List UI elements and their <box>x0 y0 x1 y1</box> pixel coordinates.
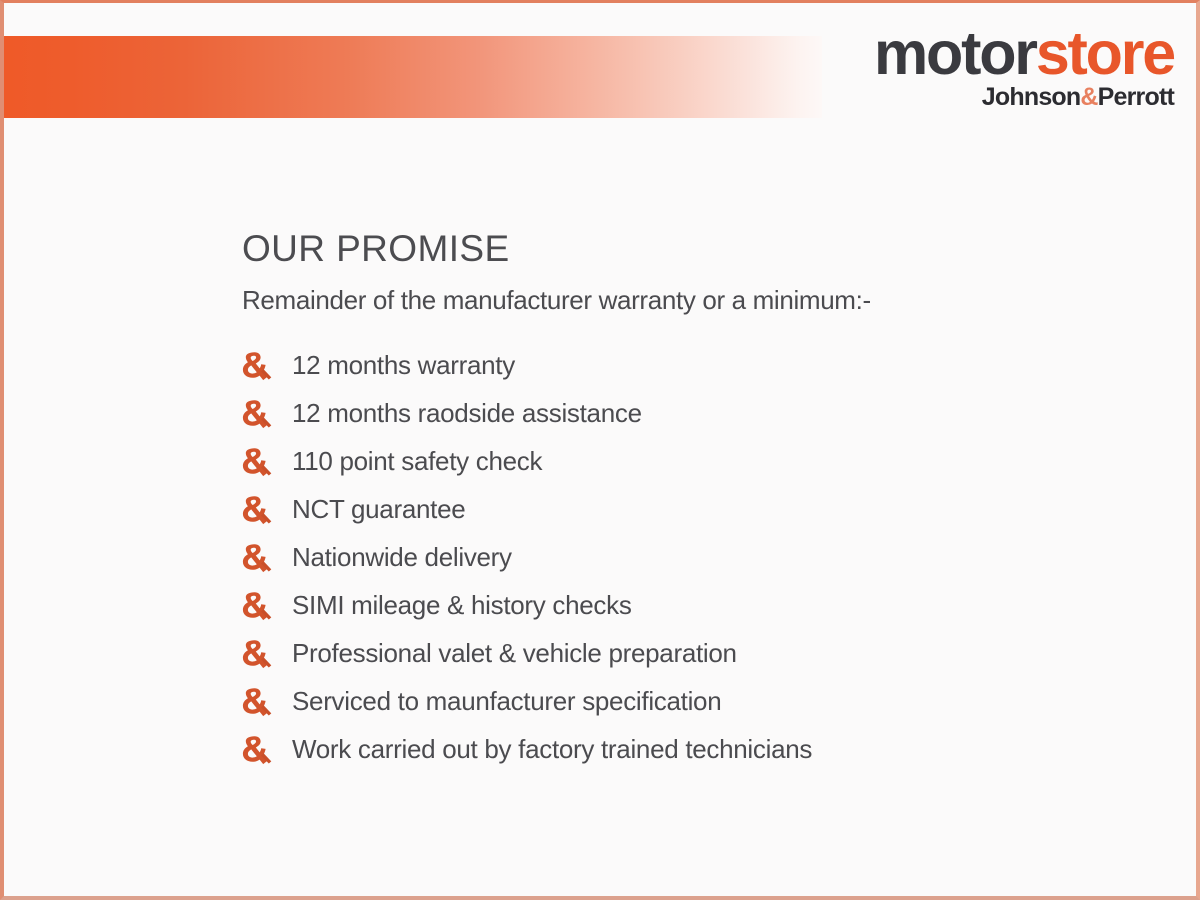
list-item-label: SIMI mileage & history checks <box>292 591 632 620</box>
ampersand-bullet-icon <box>242 637 274 671</box>
promise-list: 12 months warranty 12 months raodside as… <box>242 342 1156 774</box>
logo-word-store: store <box>1036 19 1174 87</box>
orange-gradient-bar <box>4 36 822 118</box>
ampersand-bullet-icon <box>242 397 274 431</box>
logo-word-motor: motor <box>874 19 1036 87</box>
promise-content: OUR PROMISE Remainder of the manufacture… <box>242 229 1156 774</box>
list-item: 12 months warranty <box>242 342 1156 390</box>
motorstore-logo: motorstore Johnson&Perrott <box>874 25 1174 110</box>
ampersand-bullet-icon <box>242 445 274 479</box>
promise-subtitle: Remainder of the manufacturer warranty o… <box>242 286 1156 316</box>
list-item: 110 point safety check <box>242 438 1156 486</box>
list-item: NCT guarantee <box>242 486 1156 534</box>
list-item-label: NCT guarantee <box>292 495 465 524</box>
list-item-label: Work carried out by factory trained tech… <box>292 735 812 764</box>
ampersand-bullet-icon <box>242 349 274 383</box>
list-item-label: 110 point safety check <box>292 447 542 476</box>
list-item: Serviced to maunfacturer specification <box>242 678 1156 726</box>
logo-wordmark: motorstore <box>874 25 1174 82</box>
list-item: SIMI mileage & history checks <box>242 582 1156 630</box>
slide-header: motorstore Johnson&Perrott <box>4 3 1196 125</box>
logo-subtitle-johnson: Johnson <box>982 83 1081 111</box>
list-item: Nationwide delivery <box>242 534 1156 582</box>
list-item: 12 months raodside assistance <box>242 390 1156 438</box>
ampersand-bullet-icon <box>242 493 274 527</box>
list-item-label: Serviced to maunfacturer specification <box>292 687 721 716</box>
logo-subtitle-perrott: Perrott <box>1098 83 1174 111</box>
list-item-label: Nationwide delivery <box>292 543 512 572</box>
ampersand-bullet-icon <box>242 541 274 575</box>
list-item-label: 12 months raodside assistance <box>292 399 642 428</box>
promise-slide: motorstore Johnson&Perrott OUR PROMISE R… <box>0 0 1200 900</box>
list-item-label: Professional valet & vehicle preparation <box>292 639 737 668</box>
list-item: Professional valet & vehicle preparation <box>242 630 1156 678</box>
ampersand-bullet-icon <box>242 589 274 623</box>
list-item-label: 12 months warranty <box>292 351 515 380</box>
list-item: Work carried out by factory trained tech… <box>242 726 1156 774</box>
logo-subtitle: Johnson&Perrott <box>874 85 1174 110</box>
page-title: OUR PROMISE <box>242 229 1156 270</box>
ampersand-bullet-icon <box>242 685 274 719</box>
logo-subtitle-ampersand: & <box>1080 83 1097 111</box>
ampersand-bullet-icon <box>242 733 274 767</box>
